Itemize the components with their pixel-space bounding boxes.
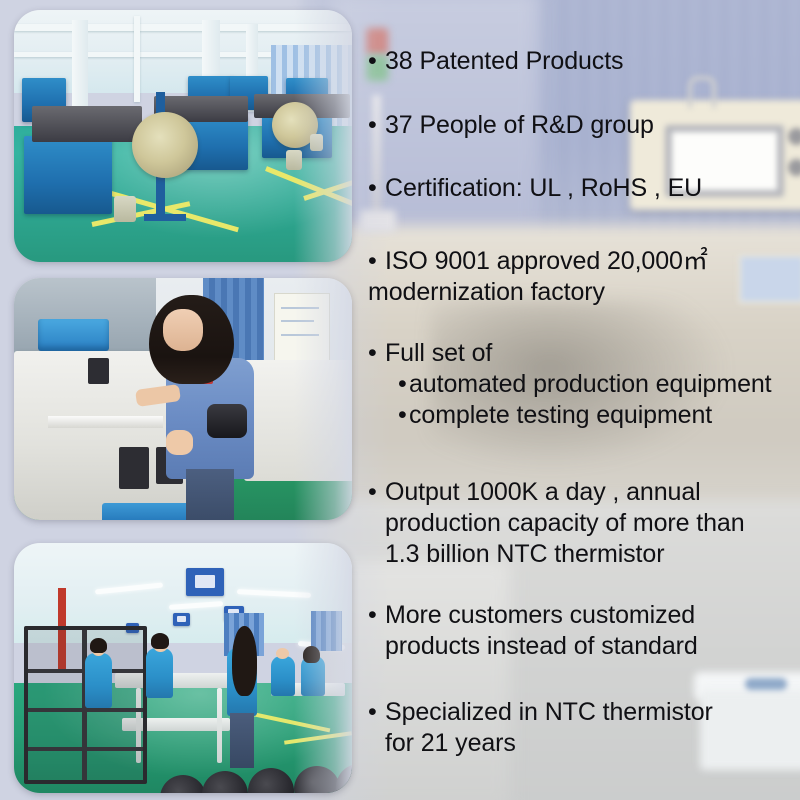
- bullet-text: 38 Patented Products: [385, 47, 623, 75]
- bullet-text: Specialized in NTC thermistor: [385, 698, 713, 726]
- bullet-text: More customers customized: [385, 601, 695, 629]
- bullet-marker: •: [368, 46, 385, 77]
- photo1-machine: [24, 136, 112, 214]
- photo-operator-machine: [14, 278, 352, 520]
- sub-bullet-testing: •complete testing equipment: [398, 400, 772, 431]
- photo3-bench-leg: [217, 688, 222, 763]
- photo3-worker: [146, 648, 173, 698]
- photo2-edge-fade: [294, 278, 352, 520]
- bullet-text-line3: 1.3 billion NTC thermistor: [385, 539, 745, 570]
- bullet-list: •38 Patented Products •37 People of R&D …: [360, 0, 800, 800]
- photo3-worker-hair: [232, 626, 257, 696]
- bullet-text-line2: for 21 years: [385, 728, 713, 759]
- bullet-full-set: •Full set of •automated production equip…: [368, 338, 772, 431]
- bullet-text-line2: products instead of standard: [385, 631, 698, 662]
- bullet-marker: •: [368, 338, 385, 369]
- bullet-specialized: •Specialized in NTC thermistor for 21 ye…: [368, 697, 713, 759]
- photo2-machine-rail: [48, 416, 163, 428]
- photo-assembly-hall: [14, 543, 352, 793]
- photo2-machine-block: [119, 447, 149, 488]
- photo2-machine-block: [88, 358, 108, 385]
- photo-production-line: [14, 10, 352, 262]
- bullet-text: Full set of: [385, 339, 492, 367]
- photo2-blue-crate: [102, 503, 197, 520]
- bullet-text: 37 People of R&D group: [385, 111, 654, 139]
- photo1-beam: [134, 16, 140, 102]
- sub-bullet-automated: •automated production equipment: [398, 369, 772, 400]
- bullet-marker: •: [368, 600, 385, 631]
- bullet-iso: •ISO 9001 approved 20,000㎡ modernization…: [368, 246, 708, 308]
- photo2-worker-legs: [186, 469, 233, 520]
- bullet-marker: •: [368, 173, 385, 204]
- photo3-wall-sign: [186, 568, 223, 596]
- sub-bullet-text: automated production equipment: [409, 370, 772, 398]
- photo3-wall-sign: [173, 613, 190, 626]
- photo3-spool: [248, 768, 294, 793]
- photo3-worker: [85, 653, 112, 708]
- bullet-marker: •: [368, 110, 385, 141]
- photo1-edge-fade: [294, 10, 352, 262]
- photo1-spool: [114, 196, 136, 222]
- photo3-worker-hair: [90, 638, 107, 653]
- bullet-marker: •: [368, 697, 385, 728]
- bullet-certification: •Certification: UL , RoHS , EU: [368, 173, 702, 204]
- bullet-marker: •: [368, 477, 385, 508]
- bullet-text: ISO 9001 approved 20,000㎡: [385, 247, 708, 275]
- photo1-machine-head: [32, 106, 142, 142]
- bullet-text: Output 1000K a day , annual: [385, 478, 701, 506]
- bullet-text-line2: production capacity of more than: [385, 508, 745, 539]
- bullet-output: •Output 1000K a day , annual production …: [368, 477, 745, 570]
- photo3-spool: [160, 775, 206, 793]
- bullet-marker: •: [368, 246, 385, 277]
- photo3-edge-fade: [294, 543, 352, 793]
- bullet-rd-group: •37 People of R&D group: [368, 110, 654, 141]
- photo2-worker-hand: [166, 430, 193, 454]
- photo1-wire-reel: [132, 112, 198, 178]
- photo2-worker-face: [163, 309, 204, 350]
- photo3-spool: [202, 771, 248, 793]
- bullet-patents: •38 Patented Products: [368, 46, 623, 77]
- bullet-text: Certification: UL , RoHS , EU: [385, 174, 702, 202]
- bullet-text-line2: modernization factory: [368, 277, 708, 308]
- sub-bullet-marker: •: [398, 369, 409, 400]
- photo1-reel-foot: [144, 214, 186, 221]
- photo2-blue-crate: [38, 319, 109, 350]
- slide-root: •38 Patented Products •37 People of R&D …: [0, 0, 800, 800]
- photo3-worker-hair: [151, 633, 170, 649]
- photo2-worker-sleeve: [207, 404, 248, 438]
- bullet-customized: •More customers customized products inst…: [368, 600, 698, 662]
- photo1-column: [72, 20, 88, 116]
- sub-bullet-marker: •: [398, 400, 409, 431]
- photo3-worker: [271, 656, 295, 696]
- sub-bullet-text: complete testing equipment: [409, 401, 712, 429]
